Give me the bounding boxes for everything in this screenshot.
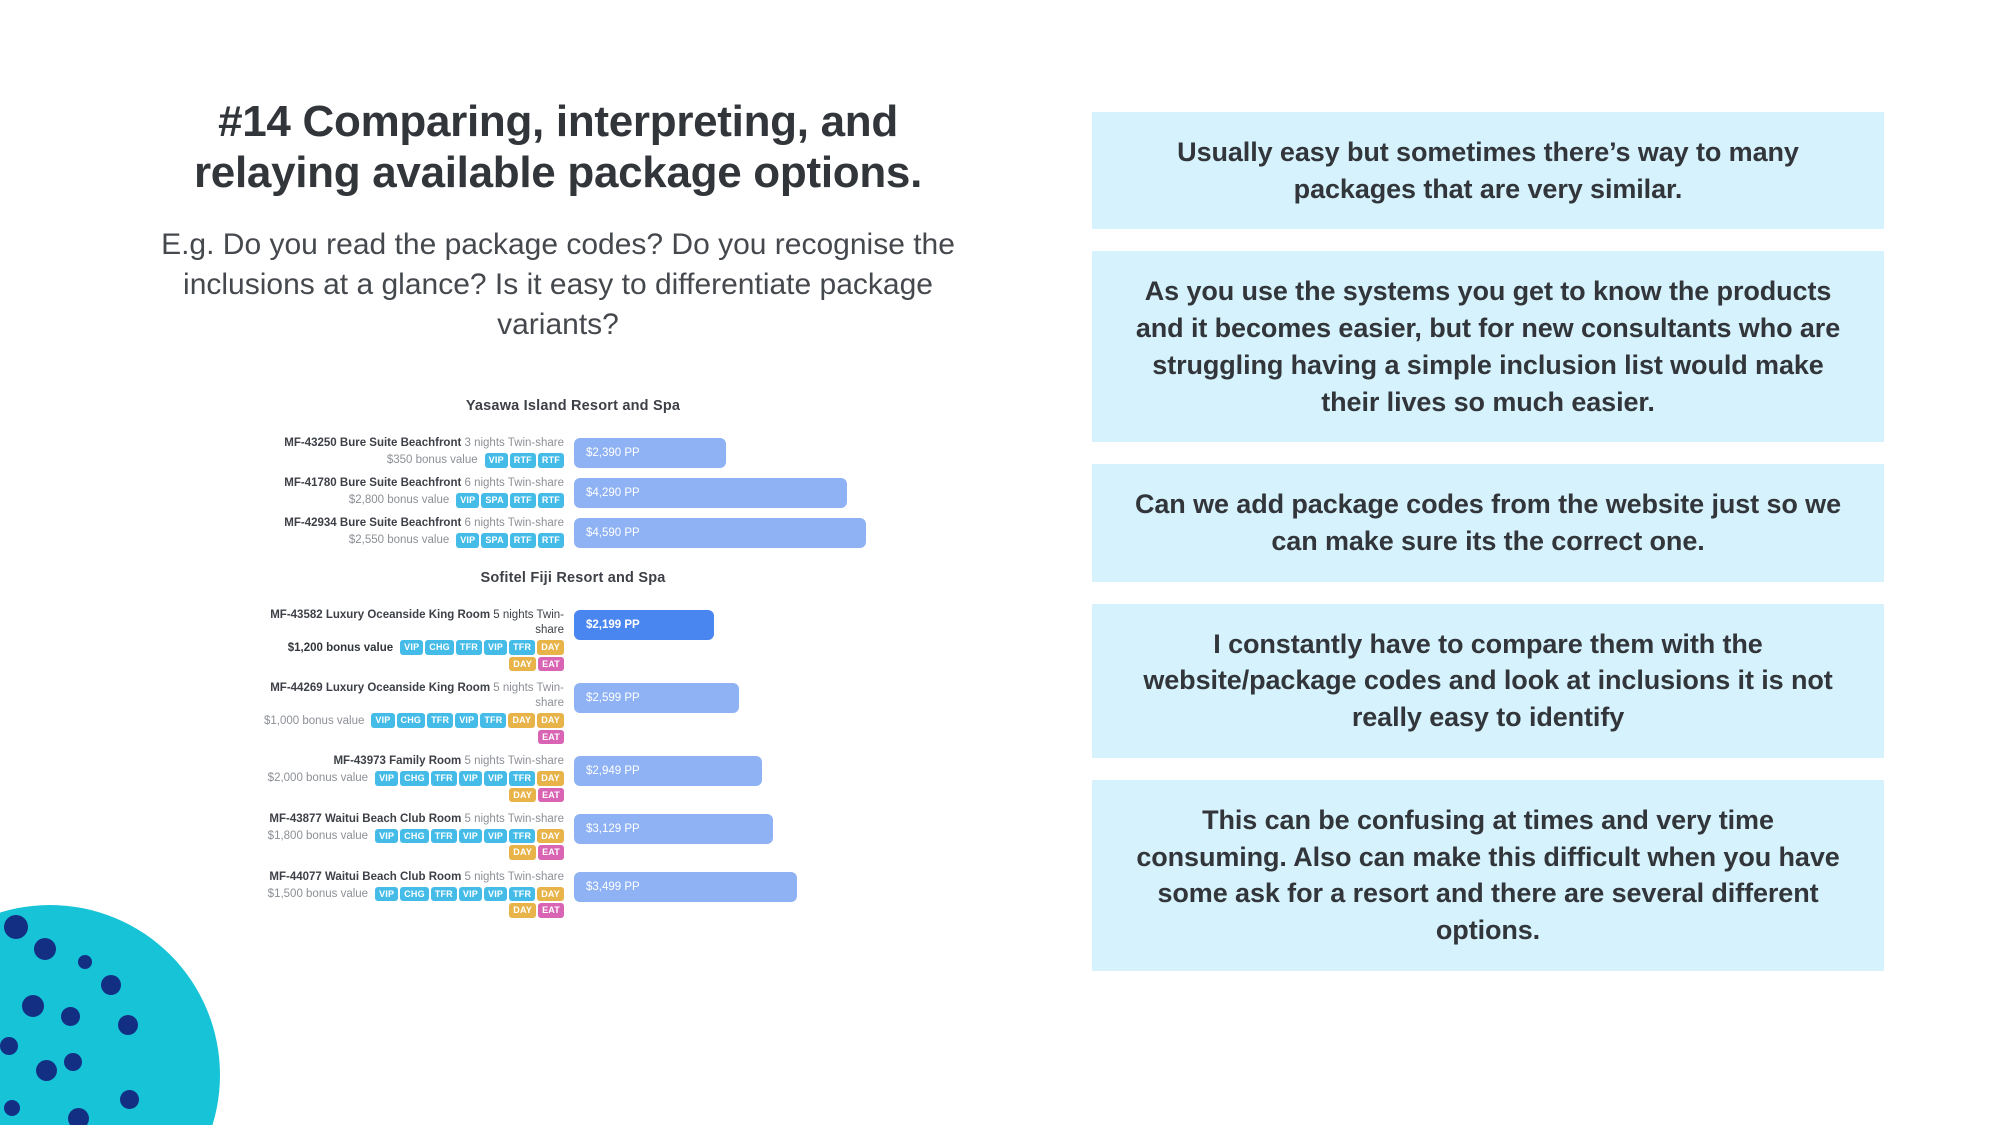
chart-row-inclusions: $1,500 bonus valueVIPCHGTFRVIPVIPTFRDAYD… (262, 887, 564, 918)
bar-price-label: $4,590 PP (586, 527, 640, 539)
quote-text: This can be confusing at times and very … (1126, 802, 1850, 949)
chart-row[interactable]: MF-42934 Bure Suite Beachfront 6 nights … (262, 516, 902, 548)
bar-price-label: $2,199 PP (586, 619, 640, 631)
inclusion-tag-eat: EAT (538, 845, 564, 859)
package-stay-details: 6 nights Twin-share (461, 477, 564, 489)
chart-row[interactable]: MF-44269 Luxury Oceanside King Room 5 ni… (262, 681, 902, 744)
bar-price-label: $4,290 PP (586, 487, 640, 499)
chart-bar-area: $3,499 PP (574, 870, 902, 902)
inclusion-tag-day: DAY (509, 903, 536, 917)
chart-row-labels: MF-44077 Waitui Beach Club Room 5 nights… (262, 870, 574, 918)
inclusion-tag-chg: CHG (425, 640, 454, 654)
inclusion-tag-vip: VIP (375, 829, 398, 843)
inclusion-tag-day: DAY (509, 845, 536, 859)
decorative-dot (4, 1100, 20, 1116)
package-code: MF-43877 Waitui Beach Club Room (269, 813, 461, 825)
inclusion-tag-tfr: TFR (456, 640, 482, 654)
chart-section-title: Yasawa Island Resort and Spa (262, 398, 902, 414)
inclusion-tag-eat: EAT (538, 788, 564, 802)
inclusion-tag-chg: CHG (397, 713, 426, 727)
slide-root: #14 Comparing, interpreting, and relayin… (0, 0, 2000, 1125)
chart-row-labels: MF-41780 Bure Suite Beachfront 6 nights … (262, 476, 574, 508)
inclusion-tag-rtf: RTF (538, 493, 564, 507)
bonus-value-label: $1,500 bonus value (268, 888, 368, 900)
decorative-dot (120, 1090, 139, 1109)
chart-row[interactable]: MF-44077 Waitui Beach Club Room 5 nights… (262, 870, 902, 918)
chart-row-package: MF-41780 Bure Suite Beachfront 6 nights … (262, 476, 564, 491)
chart-bar-area: $2,199 PP (574, 608, 902, 640)
decorative-dot (64, 1053, 82, 1071)
package-stay-details: 5 nights Twin-share (461, 755, 564, 767)
bonus-value-label: $1,800 bonus value (268, 830, 368, 842)
decorative-dot (34, 938, 56, 960)
inclusion-tag-vip: VIP (459, 771, 482, 785)
inclusion-tag-day: DAY (537, 640, 564, 654)
inclusion-tag-day: DAY (508, 713, 535, 727)
inclusion-tag-rtf: RTF (538, 453, 564, 467)
package-code: MF-43250 Bure Suite Beachfront (284, 437, 461, 449)
inclusion-tag-tfr: TFR (509, 887, 535, 901)
chart-row-package: MF-43973 Family Room 5 nights Twin-share (262, 754, 564, 769)
inclusion-tag-day: DAY (509, 657, 536, 671)
inclusion-tag-tfr: TFR (509, 829, 535, 843)
inclusion-tag-vip: VIP (375, 771, 398, 785)
left-content-column: #14 Comparing, interpreting, and relayin… (118, 96, 998, 345)
chart-row-inclusions: $350 bonus valueVIPRTFRTF (262, 453, 564, 467)
chart-bar[interactable]: $2,599 PP (574, 683, 739, 713)
bonus-value-label: $1,000 bonus value (264, 715, 364, 727)
inclusion-tag-vip: VIP (371, 713, 394, 727)
chart-row[interactable]: MF-43582 Luxury Oceanside King Room 5 ni… (262, 608, 902, 671)
chart-bar[interactable]: $3,499 PP (574, 872, 797, 902)
chart-bar-area: $4,290 PP (574, 476, 902, 508)
inclusion-tag-rtf: RTF (510, 453, 536, 467)
decorative-dot (22, 995, 44, 1017)
bonus-value-label: $2,800 bonus value (349, 494, 449, 506)
package-code: MF-44077 Waitui Beach Club Room (269, 871, 461, 883)
inclusion-tag-eat: EAT (538, 657, 564, 671)
inclusion-tag-spa: SPA (481, 493, 507, 507)
package-stay-details: 5 nights Twin-share (461, 813, 564, 825)
inclusion-tag-tfr: TFR (431, 829, 457, 843)
decorative-dot (4, 915, 28, 939)
package-code: MF-43973 Family Room (333, 755, 461, 767)
inclusion-tag-day: DAY (537, 713, 564, 727)
teal-circle-shape (0, 905, 220, 1125)
chart-bar-area: $4,590 PP (574, 516, 902, 548)
bar-price-label: $2,390 PP (586, 447, 640, 459)
inclusion-tag-tfr: TFR (427, 713, 453, 727)
chart-bar-area: $2,599 PP (574, 681, 902, 713)
chart-row-labels: MF-44269 Luxury Oceanside King Room 5 ni… (262, 681, 574, 744)
package-stay-details: 6 nights Twin-share (461, 517, 564, 529)
chart-row[interactable]: MF-43877 Waitui Beach Club Room 5 nights… (262, 812, 902, 860)
inclusion-tag-vip: VIP (484, 640, 507, 654)
decorative-dot (78, 955, 92, 969)
chart-row[interactable]: MF-43973 Family Room 5 nights Twin-share… (262, 754, 902, 802)
chart-section: Sofitel Fiji Resort and SpaMF-43582 Luxu… (262, 570, 902, 918)
chart-row-package: MF-42934 Bure Suite Beachfront 6 nights … (262, 516, 564, 531)
chart-bar-area: $2,949 PP (574, 754, 902, 786)
chart-row[interactable]: MF-43250 Bure Suite Beachfront 3 nights … (262, 436, 902, 468)
inclusion-tag-day: DAY (509, 788, 536, 802)
bonus-value-label: $350 bonus value (387, 454, 478, 466)
inclusion-tag-day: DAY (537, 887, 564, 901)
decorative-dot (68, 1108, 89, 1125)
chart-section: Yasawa Island Resort and SpaMF-43250 Bur… (262, 398, 902, 548)
inclusion-tag-vip: VIP (484, 887, 507, 901)
chart-row-package: MF-43877 Waitui Beach Club Room 5 nights… (262, 812, 564, 827)
bar-price-label: $2,949 PP (586, 765, 640, 777)
inclusion-tag-chg: CHG (400, 887, 429, 901)
chart-row-package: MF-44077 Waitui Beach Club Room 5 nights… (262, 870, 564, 885)
inclusion-tag-rtf: RTF (510, 493, 536, 507)
inclusion-tag-tfr: TFR (431, 887, 457, 901)
bonus-value-label: $1,200 bonus value (288, 642, 393, 654)
inclusion-tag-vip: VIP (485, 453, 508, 467)
quote-card: As you use the systems you get to know t… (1092, 251, 1884, 442)
chart-row-labels: MF-43582 Luxury Oceanside King Room 5 ni… (262, 608, 574, 671)
bonus-value-label: $2,000 bonus value (268, 772, 368, 784)
decorative-dot (61, 1007, 80, 1026)
inclusion-tag-vip: VIP (459, 887, 482, 901)
chart-bar[interactable]: $4,590 PP (574, 518, 866, 548)
page-title: #14 Comparing, interpreting, and relayin… (118, 96, 998, 199)
quote-card: Can we add package codes from the websit… (1092, 464, 1884, 581)
decorative-dot (118, 1015, 138, 1035)
quote-card: Usually easy but sometimes there’s way t… (1092, 112, 1884, 229)
inclusion-tag-eat: EAT (538, 903, 564, 917)
chart-bar[interactable]: $4,290 PP (574, 478, 847, 508)
chart-row-labels: MF-43250 Bure Suite Beachfront 3 nights … (262, 436, 574, 468)
bar-price-label: $2,599 PP (586, 692, 640, 704)
inclusion-tag-tfr: TFR (431, 771, 457, 785)
package-stay-details: 5 nights Twin-share (490, 609, 564, 636)
bonus-value-label: $2,550 bonus value (349, 534, 449, 546)
inclusion-tag-tfr: TFR (509, 771, 535, 785)
chart-row-package: MF-44269 Luxury Oceanside King Room 5 ni… (262, 681, 564, 711)
chart-section-title: Sofitel Fiji Resort and Spa (262, 570, 902, 586)
chart-row[interactable]: MF-41780 Bure Suite Beachfront 6 nights … (262, 476, 902, 508)
package-stay-details: 5 nights Twin-share (490, 682, 564, 709)
chart-bar[interactable]: $3,129 PP (574, 814, 773, 844)
chart-row-inclusions: $2,000 bonus valueVIPCHGTFRVIPVIPTFRDAYD… (262, 771, 564, 802)
inclusion-tag-day: DAY (537, 829, 564, 843)
inclusion-tag-chg: CHG (400, 829, 429, 843)
quote-card: This can be confusing at times and very … (1092, 780, 1884, 971)
quote-text: As you use the systems you get to know t… (1126, 273, 1850, 420)
package-code: MF-44269 Luxury Oceanside King Room (270, 682, 490, 694)
decorative-corner-graphic (0, 865, 260, 1125)
package-code: MF-42934 Bure Suite Beachfront (284, 517, 461, 529)
inclusion-tag-vip: VIP (456, 533, 479, 547)
inclusion-tag-vip: VIP (400, 640, 423, 654)
inclusion-tag-vip: VIP (456, 493, 479, 507)
chart-bar[interactable]: $2,949 PP (574, 756, 762, 786)
inclusion-tag-vip: VIP (455, 713, 478, 727)
chart-bar[interactable]: $2,199 PP (574, 610, 714, 640)
chart-row-inclusions: $2,800 bonus valueVIPSPARTFRTF (262, 493, 564, 507)
inclusion-tag-vip: VIP (459, 829, 482, 843)
inclusion-tag-spa: SPA (481, 533, 507, 547)
inclusion-tag-vip: VIP (484, 829, 507, 843)
decorative-dot (101, 975, 121, 995)
quote-text: I constantly have to compare them with t… (1126, 626, 1850, 736)
inclusion-tag-vip: VIP (484, 771, 507, 785)
chart-row-labels: MF-43877 Waitui Beach Club Room 5 nights… (262, 812, 574, 860)
chart-row-inclusions: $1,000 bonus valueVIPCHGTFRVIPTFRDAYDAYE… (262, 713, 564, 744)
chart-bar[interactable]: $2,390 PP (574, 438, 726, 468)
chart-row-inclusions: $2,550 bonus valueVIPSPARTFRTF (262, 533, 564, 547)
inclusion-tag-rtf: RTF (510, 533, 536, 547)
chart-row-labels: MF-43973 Family Room 5 nights Twin-share… (262, 754, 574, 802)
chart-bar-area: $3,129 PP (574, 812, 902, 844)
quote-text: Usually easy but sometimes there’s way t… (1126, 134, 1850, 207)
inclusion-tag-day: DAY (537, 771, 564, 785)
inclusion-tag-rtf: RTF (538, 533, 564, 547)
inclusion-tag-vip: VIP (375, 887, 398, 901)
decorative-dot (36, 1060, 57, 1081)
inclusion-tag-tfr: TFR (480, 713, 506, 727)
quote-text: Can we add package codes from the websit… (1126, 486, 1850, 559)
page-subtitle: E.g. Do you read the package codes? Do y… (118, 225, 998, 345)
inclusion-tag-eat: EAT (538, 730, 564, 744)
chart-bar-area: $2,390 PP (574, 436, 902, 468)
chart-row-inclusions: $1,200 bonus valueVIPCHGTFRVIPTFRDAYDAYE… (262, 640, 564, 671)
package-comparison-chart: Yasawa Island Resort and SpaMF-43250 Bur… (262, 398, 902, 928)
quote-card-list: Usually easy but sometimes there’s way t… (1092, 112, 1884, 993)
chart-row-inclusions: $1,800 bonus valueVIPCHGTFRVIPVIPTFRDAYD… (262, 829, 564, 860)
package-code: MF-43582 Luxury Oceanside King Room (270, 609, 490, 621)
inclusion-tag-tfr: TFR (509, 640, 535, 654)
decorative-dot (0, 1037, 18, 1055)
package-stay-details: 3 nights Twin-share (461, 437, 564, 449)
package-stay-details: 5 nights Twin-share (461, 871, 564, 883)
chart-row-package: MF-43250 Bure Suite Beachfront 3 nights … (262, 436, 564, 451)
quote-card: I constantly have to compare them with t… (1092, 604, 1884, 758)
package-code: MF-41780 Bure Suite Beachfront (284, 477, 461, 489)
inclusion-tag-chg: CHG (400, 771, 429, 785)
chart-row-package: MF-43582 Luxury Oceanside King Room 5 ni… (262, 608, 564, 638)
chart-row-labels: MF-42934 Bure Suite Beachfront 6 nights … (262, 516, 574, 548)
bar-price-label: $3,129 PP (586, 823, 640, 835)
bar-price-label: $3,499 PP (586, 881, 640, 893)
